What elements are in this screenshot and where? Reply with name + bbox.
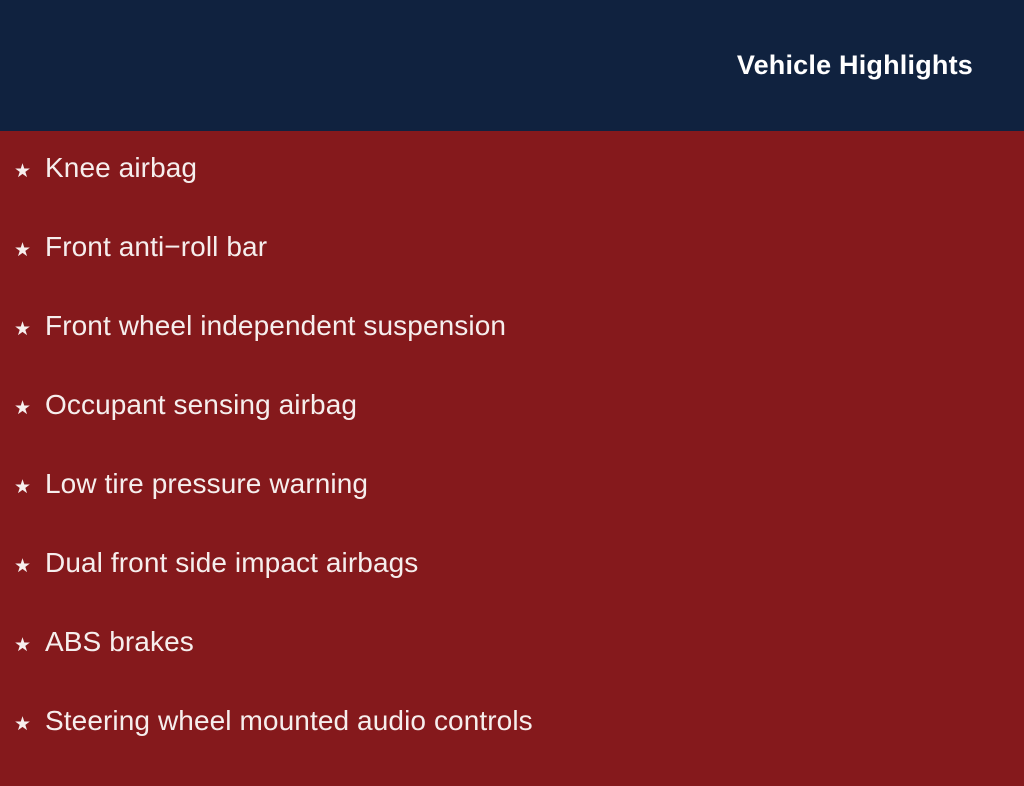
list-item-label: Low tire pressure warning <box>45 470 368 498</box>
list-item: ★ Front anti−roll bar <box>0 233 1024 312</box>
list-item-label: Occupant sensing airbag <box>45 391 357 419</box>
page-title: Vehicle Highlights <box>737 52 973 79</box>
slide-body: ★ Knee airbag ★ Front anti−roll bar ★ Fr… <box>0 131 1024 786</box>
vehicle-highlights-list: ★ Knee airbag ★ Front anti−roll bar ★ Fr… <box>0 154 1024 786</box>
list-item-label: Dual front side impact airbags <box>45 549 418 577</box>
star-bullet-icon: ★ <box>14 715 45 734</box>
vehicle-highlights-slide: Vehicle Highlights ★ Knee airbag ★ Front… <box>0 0 1024 768</box>
list-item-label: Steering wheel mounted audio controls <box>45 707 533 735</box>
list-item-label: Front wheel independent suspension <box>45 312 506 340</box>
slide-header-band: Vehicle Highlights <box>0 0 1024 131</box>
star-bullet-icon: ★ <box>14 162 45 181</box>
list-item: ★ Steering wheel mounted audio controls <box>0 707 1024 786</box>
list-item-label: Front anti−roll bar <box>45 233 267 261</box>
star-bullet-icon: ★ <box>14 320 45 339</box>
star-bullet-icon: ★ <box>14 636 45 655</box>
star-bullet-icon: ★ <box>14 241 45 260</box>
star-bullet-icon: ★ <box>14 557 45 576</box>
list-item: ★ Low tire pressure warning <box>0 470 1024 549</box>
list-item-label: ABS brakes <box>45 628 194 656</box>
list-item: ★ Knee airbag <box>0 154 1024 233</box>
star-bullet-icon: ★ <box>14 478 45 497</box>
list-item: ★ Occupant sensing airbag <box>0 391 1024 470</box>
list-item-label: Knee airbag <box>45 154 197 182</box>
list-item: ★ Dual front side impact airbags <box>0 549 1024 628</box>
list-item: ★ Front wheel independent suspension <box>0 312 1024 391</box>
list-item: ★ ABS brakes <box>0 628 1024 707</box>
star-bullet-icon: ★ <box>14 399 45 418</box>
